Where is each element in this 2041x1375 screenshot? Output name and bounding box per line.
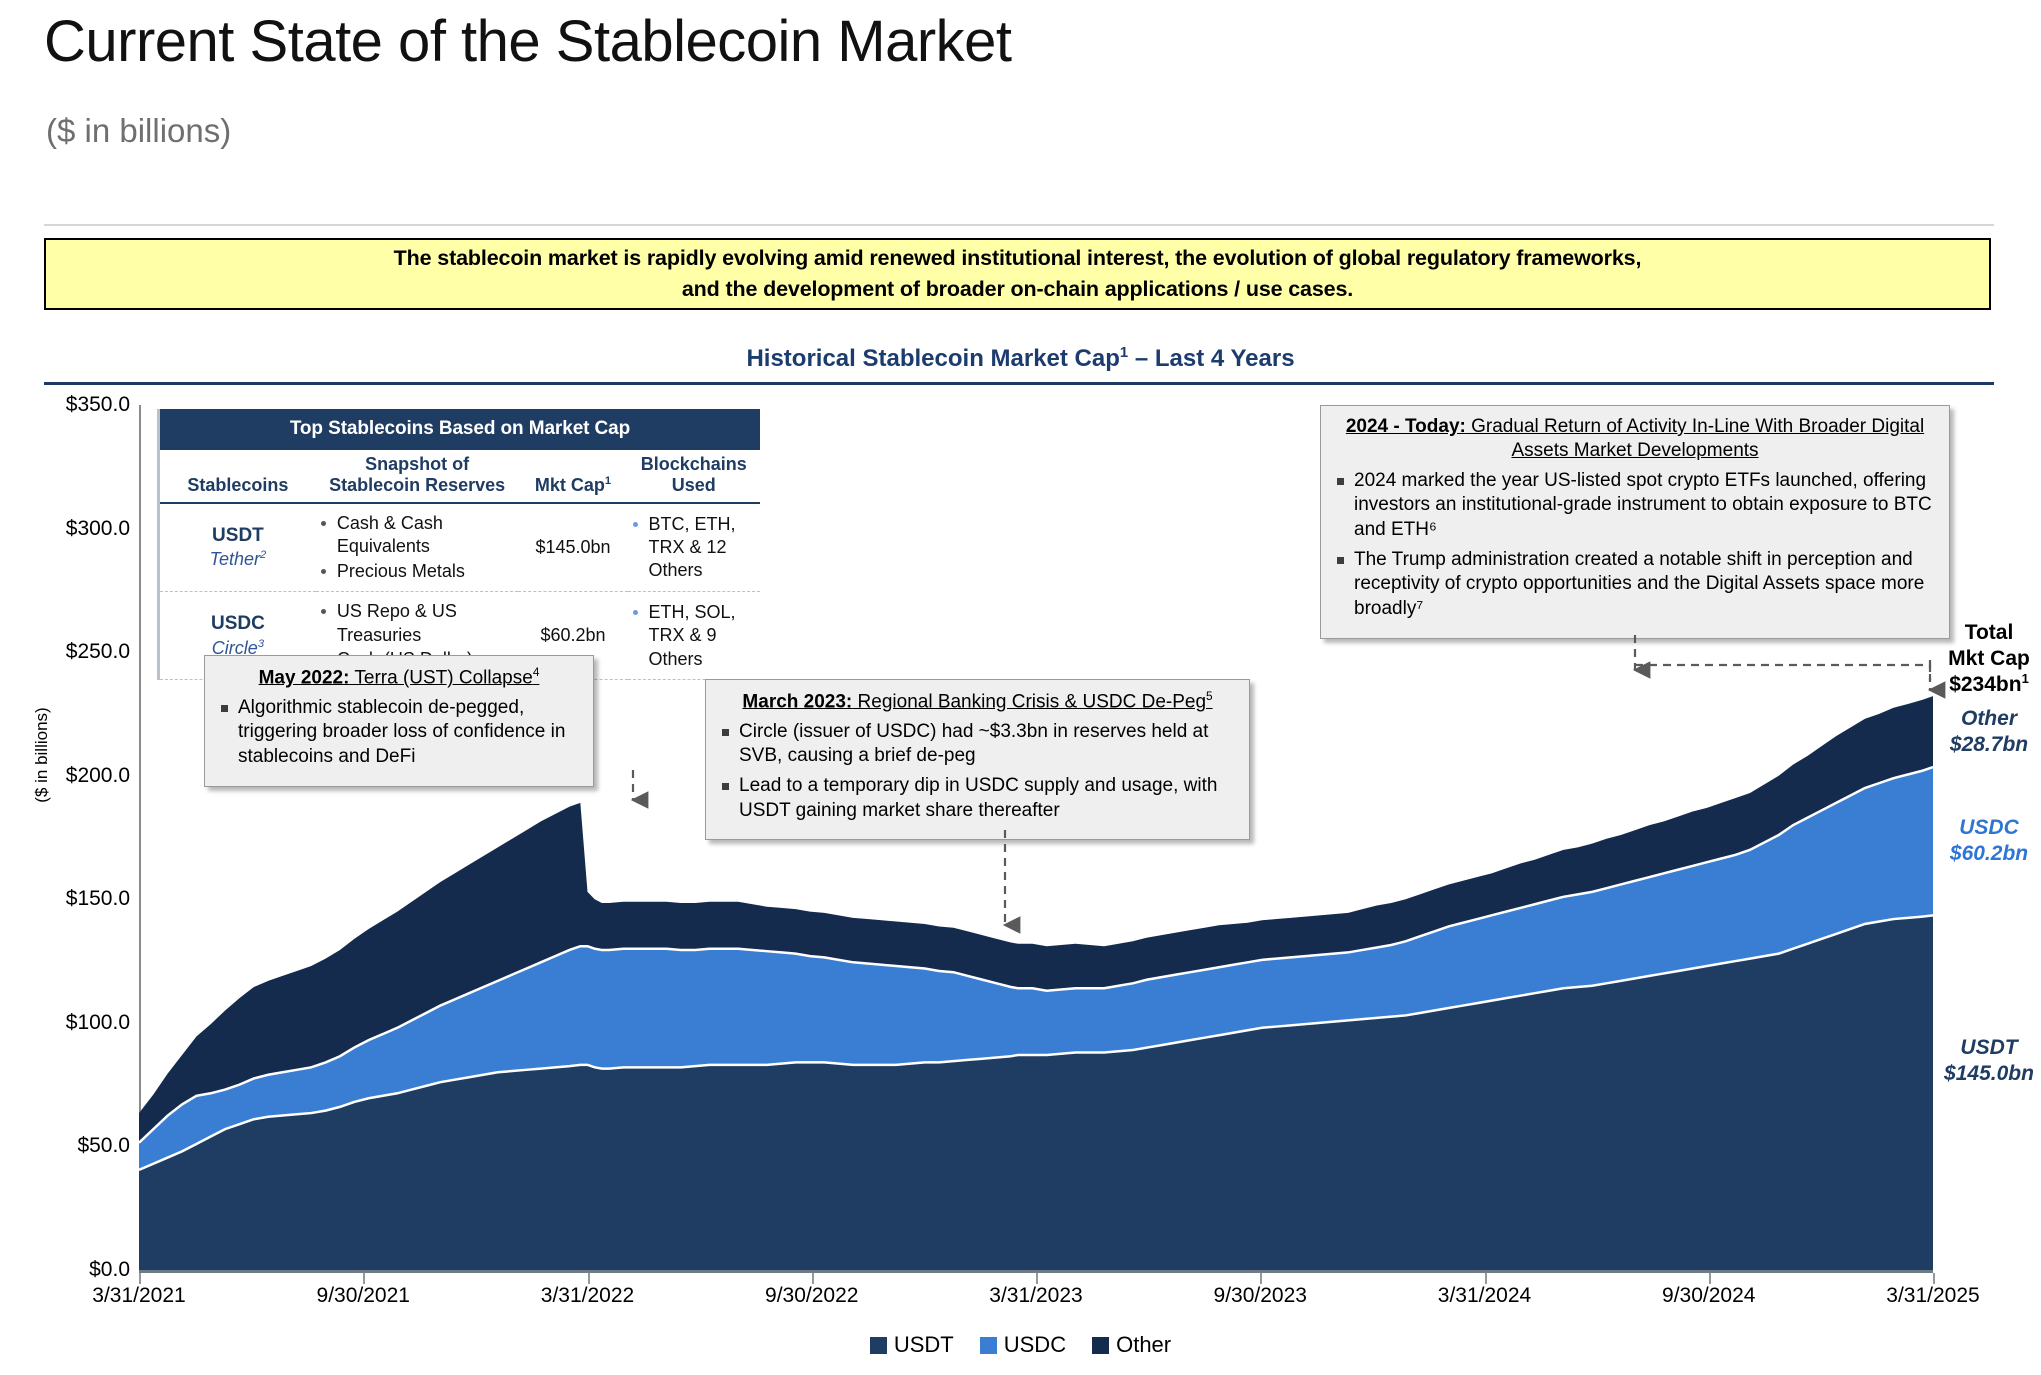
table-header-bar: Top Stablecoins Based on Market Cap	[160, 409, 760, 450]
x-axis-tick-label: 3/31/2021	[92, 1284, 185, 1308]
chart-title-footnote: 1	[1120, 345, 1128, 361]
chart-section-title: Historical Stablecoin Market Cap1 – Last…	[0, 345, 2041, 373]
x-axis-tick-mark	[1709, 1273, 1711, 1284]
note-march-2023-heading: March 2023: Regional Banking Crisis & US…	[718, 689, 1237, 715]
label-total-line1: Total	[1965, 621, 2014, 644]
note-2024-heading: 2024 - Today: Gradual Return of Activity…	[1333, 415, 1937, 464]
table-row: USDTTether2Cash & Cash EquivalentsPrecio…	[160, 503, 760, 592]
y-axis-labels: $0.0$50.0$100.0$150.0$200.0$250.0$300.0$…	[0, 0, 130, 1375]
x-axis-tick-mark	[588, 1273, 590, 1284]
label-other-name: Other	[1961, 707, 2017, 730]
x-axis-tick-mark	[1933, 1273, 1935, 1284]
note-march-2023-footnote: 5	[1206, 690, 1213, 703]
x-axis-tick-mark	[139, 1273, 141, 1284]
note-may-2022-footnote: 4	[533, 666, 540, 679]
note-2024-today: 2024 - Today: Gradual Return of Activity…	[1320, 405, 1950, 639]
y-axis-tick-label: $200.0	[66, 764, 130, 788]
note-may-2022-subtitle: Terra (UST) Collapse	[349, 667, 532, 688]
note-2024-title: 2024 - Today:	[1346, 416, 1466, 437]
note-march-2023-bullets: Circle (issuer of USDC) had ~$3.3bn in r…	[718, 720, 1237, 824]
label-other: Other $28.7bn	[1937, 706, 2041, 757]
y-axis-tick-label: $250.0	[66, 640, 130, 664]
x-axis-tick-mark	[1485, 1273, 1487, 1284]
legend-item-usdt[interactable]: USDT	[870, 1332, 954, 1358]
list-item: Circle (issuer of USDC) had ~$3.3bn in r…	[718, 720, 1237, 769]
x-axis-tick-label: 3/31/2023	[989, 1284, 1082, 1308]
legend-item-usdc[interactable]: USDC	[980, 1332, 1066, 1358]
legend-label: USDC	[1004, 1332, 1066, 1358]
reserves-list: Cash & Cash EquivalentsPrecious Metals	[318, 512, 517, 583]
col-mktcap-footnote: 1	[605, 475, 611, 487]
x-axis-tick-mark	[1260, 1273, 1262, 1284]
cell-reserves: Cash & Cash EquivalentsPrecious Metals	[316, 503, 519, 592]
list-item: Cash & Cash Equivalents	[318, 512, 517, 559]
y-axis-tick-label: $300.0	[66, 517, 130, 541]
note-may-2022: May 2022: Terra (UST) Collapse4 Algorith…	[204, 655, 594, 787]
cell-mkt-cap: $145.0bn	[518, 503, 627, 592]
cell-blockchains: BTC, ETH, TRX & 12 Others	[628, 503, 760, 592]
note-march-2023-title: March 2023:	[742, 691, 852, 712]
legend-swatch-icon	[980, 1337, 997, 1354]
x-axis-tick-mark	[363, 1273, 365, 1284]
coin-issuer: Tether2	[162, 548, 314, 571]
list-item: ETH, SOL, TRX & 9 Others	[630, 601, 758, 671]
note-may-2022-heading: May 2022: Terra (UST) Collapse4	[217, 665, 581, 691]
chart-title-suffix: – Last 4 Years	[1128, 345, 1294, 372]
list-item: The Trump administration created a notab…	[1333, 548, 1937, 622]
list-item: Precious Metals	[318, 560, 517, 583]
label-total-mkt-cap: Total Mkt Cap $234bn1	[1937, 620, 2041, 698]
y-axis-tick-label: $50.0	[77, 1134, 130, 1158]
legend-swatch-icon	[870, 1337, 887, 1354]
x-axis-tick-label: 3/31/2022	[541, 1284, 634, 1308]
col-stablecoins-label: Stablecoins	[187, 475, 288, 495]
col-mktcap: Mkt Cap1	[518, 450, 627, 503]
banner-line-1: The stablecoin market is rapidly evolvin…	[394, 243, 1642, 274]
x-axis-tick-label: 9/30/2024	[1662, 1284, 1755, 1308]
label-total-footnote: 1	[2022, 671, 2029, 686]
y-axis-title: ($ in billions)	[32, 665, 52, 845]
legend-label: Other	[1116, 1332, 1171, 1358]
x-axis-tick-label: 3/31/2025	[1886, 1284, 1979, 1308]
x-axis-tick-label: 9/30/2021	[317, 1284, 410, 1308]
chart-title-divider	[44, 382, 1994, 385]
stablecoins-table: Stablecoins Snapshot of Stablecoin Reser…	[160, 450, 760, 680]
note-march-2023-subtitle: Regional Banking Crisis & USDC De-Peg	[852, 691, 1206, 712]
chart-legend: USDTUSDCOther	[0, 1332, 2041, 1358]
legend-swatch-icon	[1092, 1337, 1109, 1354]
y-axis-tick-label: $350.0	[66, 393, 130, 417]
x-axis-tick-label: 3/31/2024	[1438, 1284, 1531, 1308]
legend-item-other[interactable]: Other	[1092, 1332, 1171, 1358]
cell-blockchains: ETH, SOL, TRX & 9 Others	[628, 592, 760, 680]
list-item: US Repo & US Treasuries	[318, 600, 517, 647]
note-march-2023: March 2023: Regional Banking Crisis & US…	[705, 679, 1250, 840]
page-title: Current State of the Stablecoin Market	[44, 8, 1012, 75]
list-item: Algorithmic stablecoin de-pegged, trigge…	[217, 696, 581, 770]
label-total-line2: Mkt Cap	[1948, 647, 2030, 670]
blockchains-list: ETH, SOL, TRX & 9 Others	[630, 601, 758, 671]
label-total-value: $234bn	[1949, 673, 2021, 696]
header-divider	[44, 224, 1994, 226]
chart-title-prefix: Historical Stablecoin Market Cap	[746, 345, 1119, 372]
list-item: 2024 marked the year US-listed spot cryp…	[1333, 469, 1937, 543]
y-axis-tick-label: $150.0	[66, 887, 130, 911]
y-axis-tick-label: $0.0	[89, 1258, 130, 1282]
stablecoins-table-body: USDTTether2Cash & Cash EquivalentsPrecio…	[160, 503, 760, 680]
col-stablecoins: Stablecoins	[160, 450, 316, 503]
note-may-2022-bullets: Algorithmic stablecoin de-pegged, trigge…	[217, 696, 581, 770]
col-reserves-line2: Stablecoin Reserves	[329, 475, 505, 495]
slide-page: Current State of the Stablecoin Market (…	[0, 0, 2041, 1375]
label-usdt-name: USDT	[1960, 1036, 2017, 1059]
col-mktcap-label: Mkt Cap	[535, 475, 605, 495]
label-usdt: USDT $145.0bn	[1937, 1035, 2041, 1086]
highlight-banner: The stablecoin market is rapidly evolvin…	[44, 238, 1991, 310]
note-2024-subtitle: Gradual Return of Activity In-Line With …	[1466, 416, 1924, 461]
x-axis-tick-mark	[812, 1273, 814, 1284]
x-axis-tick-label: 9/30/2023	[1214, 1284, 1307, 1308]
blockchains-list: BTC, ETH, TRX & 12 Others	[630, 513, 758, 583]
coin-ticker: USDC	[162, 612, 314, 637]
y-axis-tick-label: $100.0	[66, 1011, 130, 1035]
col-blockchains-label: Blockchains Used	[641, 454, 747, 495]
label-usdc-value: $60.2bn	[1950, 842, 2028, 865]
col-reserves: Snapshot of Stablecoin Reserves	[316, 450, 519, 503]
label-usdt-value: $145.0bn	[1944, 1062, 2034, 1085]
col-blockchains: Blockchains Used	[628, 450, 760, 503]
label-usdc-name: USDC	[1959, 816, 2019, 839]
note-may-2022-title: May 2022:	[259, 667, 350, 688]
cell-stablecoin: USDTTether2	[160, 503, 316, 592]
label-other-value: $28.7bn	[1950, 733, 2028, 756]
label-usdc: USDC $60.2bn	[1937, 815, 2041, 866]
banner-line-2: and the development of broader on-chain …	[682, 274, 1353, 305]
note-2024-bullets: 2024 marked the year US-listed spot cryp…	[1333, 469, 1937, 622]
list-item: Lead to a temporary dip in USDC supply a…	[718, 774, 1237, 823]
x-axis-tick-mark	[1036, 1273, 1038, 1284]
col-reserves-line1: Snapshot of	[365, 454, 469, 474]
coin-ticker: USDT	[162, 524, 314, 549]
top-stablecoins-table: Top Stablecoins Based on Market Cap Stab…	[157, 409, 760, 680]
legend-label: USDT	[894, 1332, 954, 1358]
list-item: BTC, ETH, TRX & 12 Others	[630, 513, 758, 583]
x-axis-tick-label: 9/30/2022	[765, 1284, 858, 1308]
